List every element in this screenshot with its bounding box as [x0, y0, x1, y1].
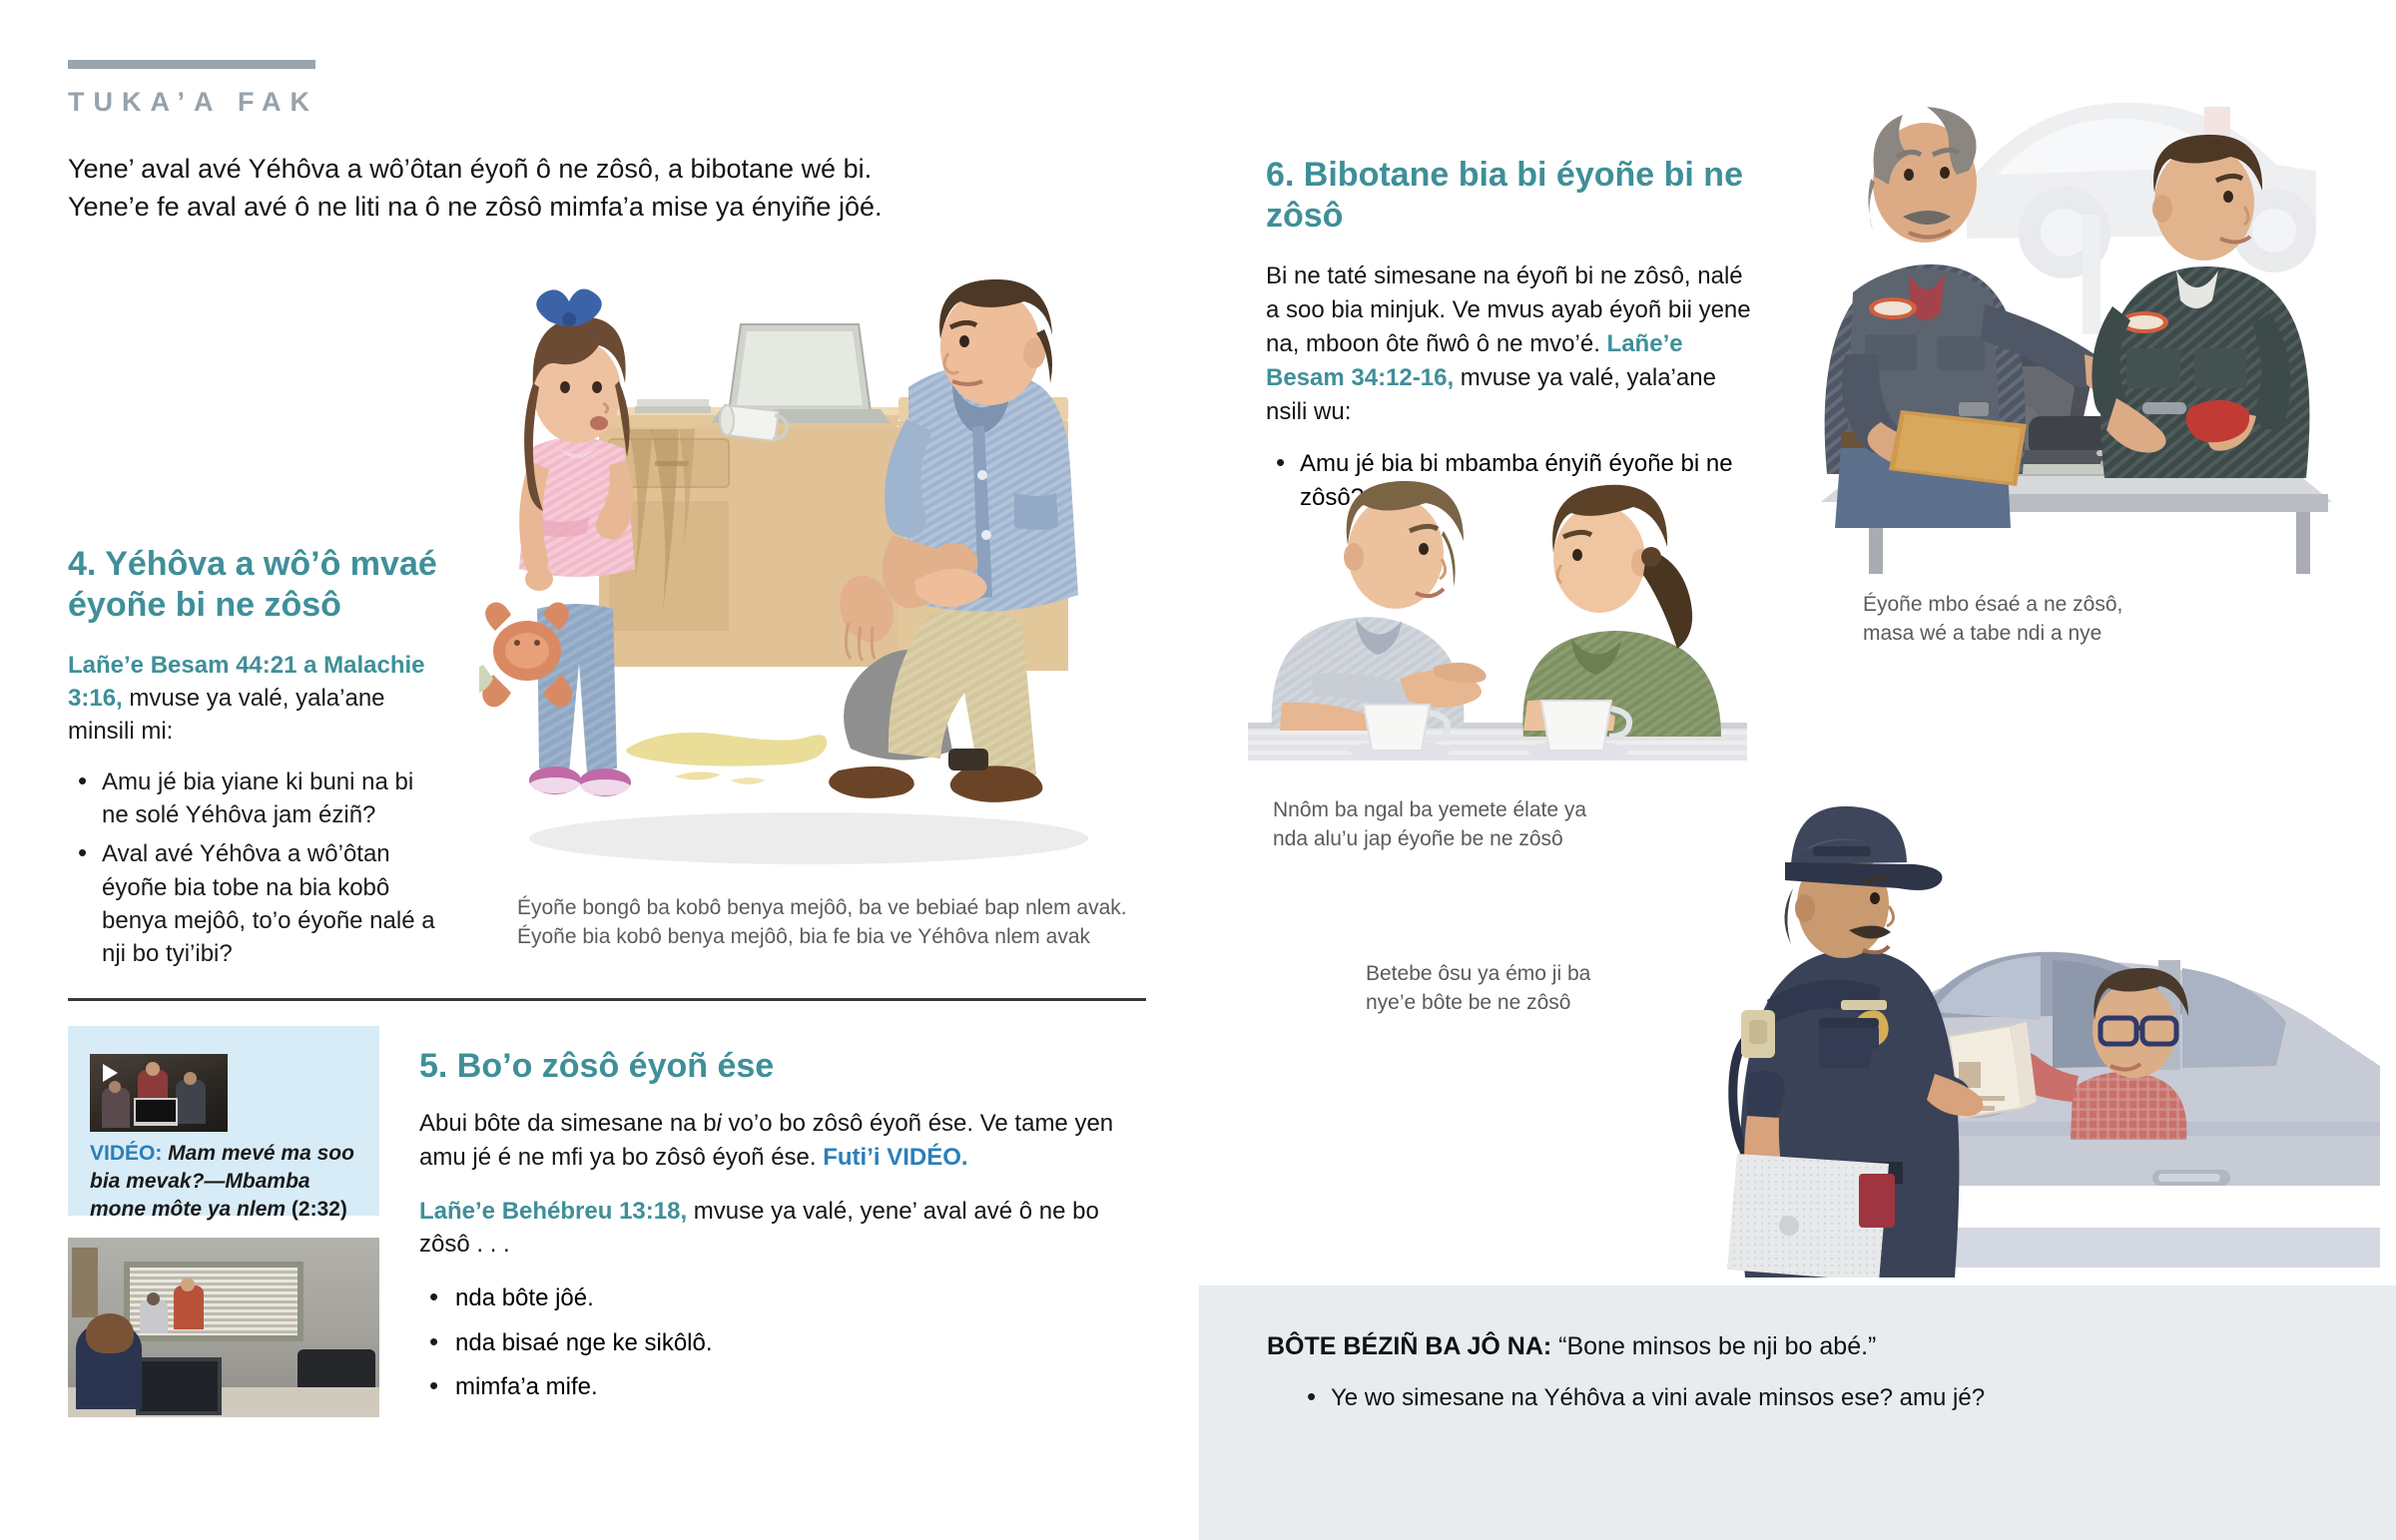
- section-4-lead: Lañe’e Besam 44:21 a Malachie 3:16, mvus…: [68, 649, 437, 748]
- left-column-divider: [68, 998, 1146, 1001]
- intro-line-1: Yene’ aval avé Yéhôva a wô’ôtan éyoñ ô n…: [68, 150, 1166, 188]
- section-5: 5. Bo’o zôsô éyoñ ése Abui bôte da simes…: [419, 1046, 1148, 1415]
- play-triangle: [103, 1064, 118, 1082]
- list-item: nda bôte jôé.: [419, 1282, 1148, 1316]
- caption-line-1: Éyoñe bongô ba kobô benya mejôô, ba ve b…: [517, 894, 1146, 923]
- illustration-police-and-driver: [1697, 719, 2386, 1278]
- photo-seated-person-head: [147, 1292, 160, 1305]
- video-caption: VIDÉO: Mam mevé ma soo bia mevak?—Mbamba…: [90, 1140, 361, 1224]
- list-item: Ye wo simesane na Yéhôva a vini avale mi…: [1297, 1381, 2315, 1415]
- section-5-para1-a: Abui bôte da simesane na b: [419, 1110, 717, 1137]
- section-5-paragraph-1: Abui bôte da simesane na bi vo’o bo zôsô…: [419, 1107, 1148, 1174]
- video-callout-box[interactable]: VIDÉO: Mam mevé ma soo bia mevak?—Mbamba…: [68, 1026, 379, 1216]
- discussion-box-bullets: Ye wo simesane na Yéhôva a vini avale mi…: [1297, 1381, 2315, 1421]
- section-4: 4. Yéhôva a wô’ô mvaé éyoñe bi ne zôsô L…: [68, 544, 437, 976]
- video-duration: (2:32): [292, 1198, 347, 1221]
- section-5-scripture-link[interactable]: Lañe’e Behébreu 13:18,: [419, 1198, 687, 1225]
- video-thumb-person-left: [102, 1088, 130, 1128]
- section-6-paragraph: Bi ne taté simesane na éyoñ bi ne zôsô, …: [1266, 259, 1755, 429]
- photo-shelf: [72, 1248, 98, 1317]
- caption-line-1: Éyoñe mbo ésaé a ne zôsô,: [1863, 591, 2262, 620]
- video-thumb-laptop: [134, 1098, 178, 1126]
- section-6-heading: 6. Bibotane bia bi éyoñe bi ne zôsô: [1266, 155, 1755, 238]
- discussion-box: BÔTE BÉZIÑ BA JÔ NA: “Bone minsos be nji…: [1199, 1285, 2396, 1540]
- page-root: TUKA’A FAK Yene’ aval avé Yéhôva a wô’ôt…: [0, 0, 2396, 1540]
- illustration-couple-at-table: [1248, 461, 1747, 761]
- caption-police-and-driver: Betebe ôsu ya émo ji ba nye’e bôte be ne…: [1366, 960, 1745, 1018]
- intro-line-2: Yene’e fe aval avé ô ne liti na ô ne zôs…: [68, 188, 1166, 226]
- discussion-box-quote: “Bone minsos be nji bo abé.”: [1551, 1332, 1876, 1360]
- video-thumb-person-right: [176, 1080, 206, 1124]
- father-daughter-artwork: [479, 279, 1178, 878]
- caption-couple-at-table: Nnôm ba ngal ba yemete élate ya nda alu’…: [1273, 796, 1672, 854]
- list-item: nda bisaé nge ke sikôlô.: [419, 1326, 1148, 1361]
- caption-mechanics-shop: Éyoñe mbo ésaé a ne zôsô, masa wé a tabe…: [1863, 591, 2262, 649]
- video-thumb-person-center-head: [146, 1062, 160, 1076]
- photo-monitor: [136, 1357, 222, 1415]
- discussion-box-heading: BÔTE BÉZIÑ BA JÔ NA: “Bone minsos be nji…: [1267, 1330, 2305, 1364]
- discussion-box-heading-label: BÔTE BÉZIÑ BA JÔ NA:: [1267, 1332, 1551, 1360]
- section-5-heading: 5. Bo’o zôsô éyoñ ése: [419, 1046, 1148, 1087]
- section-5-bullets: nda bôte jôé. nda bisaé nge ke sikôlô. m…: [419, 1282, 1148, 1405]
- section-4-bullets: Amu jé bia yiane ki buni na bi ne solé Y…: [68, 766, 437, 970]
- section-5-paragraph-2: Lañe’e Behébreu 13:18, mvuse ya valé, ye…: [419, 1195, 1148, 1262]
- photo-standing-person: [174, 1285, 204, 1329]
- illustration-mechanics-shop: [1797, 55, 2356, 574]
- couple-artwork: [1248, 461, 1747, 761]
- caption-line-2: Éyoñe bia kobô benya mejôô, bia fe bia v…: [517, 923, 1146, 952]
- video-thumb-person-right-head: [184, 1072, 197, 1085]
- video-thumbnail[interactable]: [90, 1054, 228, 1132]
- section-4-heading: 4. Yéhôva a wô’ô mvaé éyoñe bi ne zôsô: [68, 544, 437, 627]
- list-item: mimfa’a mife.: [419, 1370, 1148, 1405]
- list-item: Aval avé Yéhôva a wô’ôtan éyoñe bia tobe…: [68, 837, 437, 969]
- caption-line-2: masa wé a tabe ndi a nye: [1863, 620, 2262, 649]
- photo-office-window-scene: [68, 1238, 379, 1417]
- mechanics-artwork: [1797, 55, 2356, 574]
- photo-standing-person-head: [181, 1278, 195, 1291]
- caption-father-daughter: Éyoñe bongô ba kobô benya mejôô, ba ve b…: [517, 894, 1146, 952]
- caption-line-1: Nnôm ba ngal ba yemete élate ya: [1273, 796, 1672, 825]
- section-5-video-link[interactable]: Futi’i VIDÉO.: [823, 1144, 967, 1171]
- illustration-father-daughter-desk: [479, 279, 1178, 878]
- header-rule: [68, 60, 315, 69]
- video-label: VIDÉO:: [90, 1142, 162, 1165]
- intro-paragraph: Yene’ aval avé Yéhôva a wô’ôtan éyoñ ô n…: [68, 150, 1166, 227]
- photo-foreground-viewer-hair: [86, 1313, 134, 1353]
- page-kicker: TUKA’A FAK: [68, 87, 318, 118]
- caption-line-2: nda alu’u jap éyoñe be ne zôsô: [1273, 825, 1672, 854]
- list-item: Amu jé bia yiane ki buni na bi ne solé Y…: [68, 766, 437, 831]
- caption-line-2: nye’e bôte be ne zôsô: [1366, 989, 1745, 1018]
- play-icon[interactable]: [96, 1060, 122, 1086]
- caption-line-1: Betebe ôsu ya émo ji ba: [1366, 960, 1745, 989]
- police-artwork: [1697, 719, 2386, 1278]
